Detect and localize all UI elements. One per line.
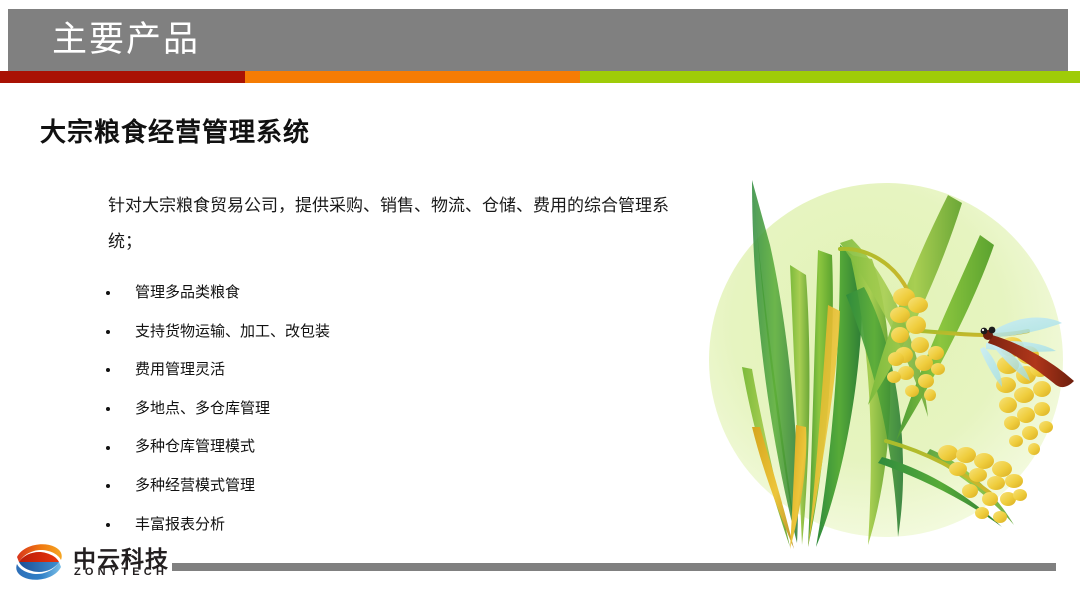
- list-item: 多种仓库管理模式: [103, 428, 663, 467]
- list-item-label: 多种仓库管理模式: [135, 438, 255, 455]
- list-item-label: 多种经营模式管理: [135, 477, 255, 494]
- list-item: 管理多品类粮食: [103, 274, 663, 313]
- bullet-dot-icon: [106, 291, 110, 295]
- lead-paragraph: 针对大宗粮食贸易公司，提供采购、销售、物流、仓储、费用的综合管理系统；: [108, 188, 688, 260]
- list-item: 费用管理灵活: [103, 351, 663, 390]
- logo-text-en: ZONYTECH: [74, 566, 168, 578]
- feature-bullet-list: 管理多品类粮食 支持货物运输、加工、改包装 费用管理灵活 多地点、多仓库管理 多…: [103, 274, 663, 544]
- list-item-label: 管理多品类粮食: [135, 284, 240, 301]
- zonytech-logo-mark: [10, 538, 68, 586]
- list-item-label: 丰富报表分析: [135, 516, 225, 533]
- list-item-label: 多地点、多仓库管理: [135, 400, 270, 417]
- accent-stripe: [0, 71, 1080, 83]
- page-title: 主要产品: [52, 16, 200, 64]
- bullet-dot-icon: [106, 407, 110, 411]
- bullet-dot-icon: [106, 446, 110, 450]
- list-item-label: 费用管理灵活: [135, 361, 225, 378]
- list-item: 多种经营模式管理: [103, 467, 663, 506]
- section-subtitle: 大宗粮食经营管理系统: [40, 112, 310, 149]
- bullet-dot-icon: [106, 368, 110, 372]
- list-item-label: 支持货物运输、加工、改包装: [135, 323, 330, 340]
- bullet-dot-icon: [106, 330, 110, 334]
- list-item: 丰富报表分析: [103, 506, 663, 545]
- list-item: 支持货物运输、加工、改包装: [103, 313, 663, 352]
- bullet-dot-icon: [106, 484, 110, 488]
- bullet-dot-icon: [106, 523, 110, 527]
- list-item: 多地点、多仓库管理: [103, 390, 663, 429]
- accent-stripe-segment-red: [0, 71, 245, 83]
- accent-stripe-segment-orange: [245, 71, 580, 83]
- footer-rule: [172, 563, 1056, 571]
- rice-plant-illustration: [690, 155, 1080, 555]
- brand-logo: 中云科技 ZONYTECH: [10, 536, 172, 592]
- accent-stripe-segment-green: [580, 71, 1080, 83]
